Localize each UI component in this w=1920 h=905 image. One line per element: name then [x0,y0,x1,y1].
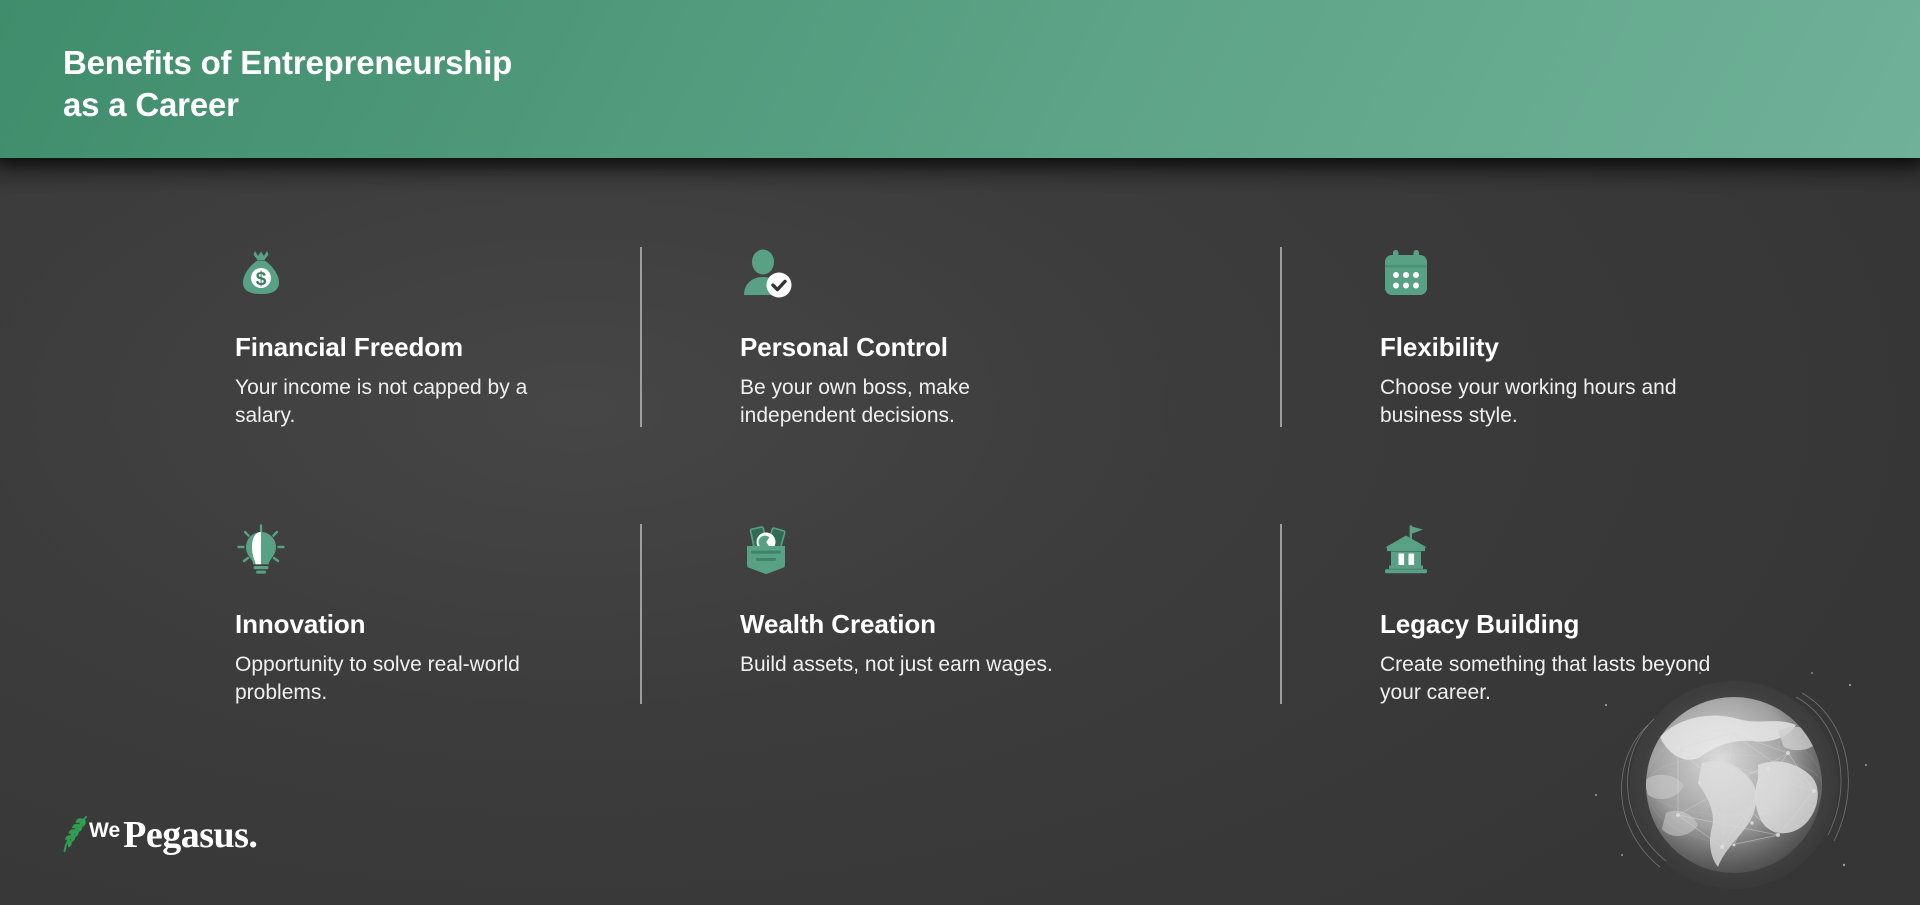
benefit-card-financial-freedom: $ Financial Freedom Your income is not c… [0,192,640,469]
money-bag-icon: $ [235,247,287,299]
calendar-icon [1380,247,1432,299]
card-title: Personal Control [740,333,1220,362]
slide-canvas: Benefits of Entrepreneurship as a Career… [0,0,1920,905]
card-description: Create something that lasts beyond your … [1380,651,1740,707]
lightbulb-icon [235,524,287,576]
benefits-grid: $ Financial Freedom Your income is not c… [0,192,1920,747]
logo-name: Pegasus. [123,813,257,857]
card-title: Financial Freedom [235,333,580,362]
card-description: Build assets, not just earn wages. [740,651,1055,679]
header-shadow [0,158,1920,192]
benefit-card-wealth-creation: Wealth Creation Build assets, not just e… [640,469,1280,746]
bank-building-icon [1380,524,1432,576]
card-description: Opportunity to solve real-world problems… [235,651,580,707]
wallet-cash-icon [740,524,792,576]
brand-logo[interactable]: We Pegasus. [62,813,257,857]
card-title: Innovation [235,610,580,639]
svg-text:$: $ [256,269,267,290]
header-band: Benefits of Entrepreneurship as a Career [0,0,1920,158]
card-title: Flexibility [1380,333,1860,362]
benefit-card-innovation: Innovation Opportunity to solve real-wor… [0,469,640,746]
benefit-card-legacy-building: Legacy Building Create something that la… [1280,469,1920,746]
card-description: Choose your working hours and business s… [1380,374,1740,430]
card-title: Legacy Building [1380,610,1860,639]
page-title: Benefits of Entrepreneurship as a Career [63,42,512,126]
fern-leaf-icon [62,815,90,855]
card-title: Wealth Creation [740,610,1220,639]
benefit-card-flexibility: Flexibility Choose your working hours an… [1280,192,1920,469]
person-check-icon [740,247,792,299]
card-description: Your income is not capped by a salary. [235,374,580,430]
card-description: Be your own boss, make independent decis… [740,374,1055,430]
logo-prefix: We [89,819,120,843]
benefit-card-personal-control: Personal Control Be your own boss, make … [640,192,1280,469]
